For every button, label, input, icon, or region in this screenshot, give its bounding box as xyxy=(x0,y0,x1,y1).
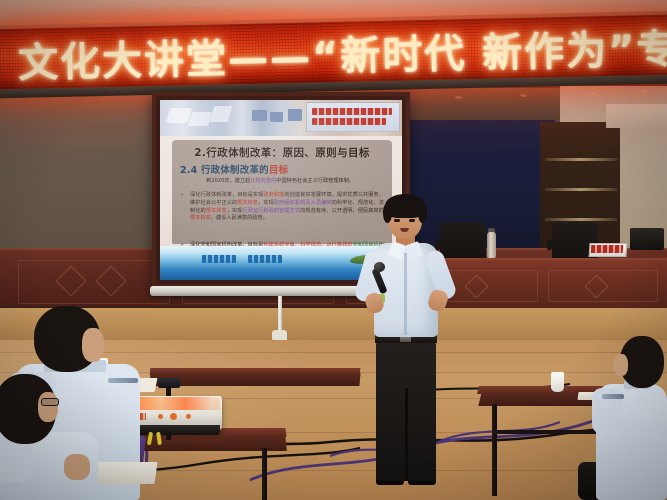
attendee-far-left xyxy=(0,372,106,500)
attendee-shoulder xyxy=(0,438,32,482)
paper-cup xyxy=(551,372,564,392)
slide-subtitle: 2.4 行政体制改革的目标 xyxy=(180,162,288,176)
slide-header-band xyxy=(306,102,400,132)
microphone-head xyxy=(374,262,385,272)
attendee-face xyxy=(614,354,628,376)
lecture-hall-photo: 文化大讲堂——“新时代 新作为”专 xyxy=(0,0,667,500)
wall-panel-outline xyxy=(18,260,170,304)
ceiling-light-dot xyxy=(640,90,647,93)
slide-lead-b: 比较完善的 xyxy=(250,178,276,184)
strip-photo-object xyxy=(166,108,192,123)
strip-monitor xyxy=(252,110,267,121)
presenter-eye xyxy=(394,219,400,222)
ceiling-light-dot xyxy=(590,92,597,95)
presenter-hair-side xyxy=(418,203,427,223)
strip-photo-object xyxy=(210,106,233,122)
ceiling-soffit xyxy=(606,104,667,128)
presenter-leg-split xyxy=(405,388,408,481)
slide-photo-strip xyxy=(160,100,402,136)
uniform-epaulette xyxy=(108,378,138,383)
uniform-epaulette xyxy=(602,394,624,399)
strip-monitor xyxy=(288,109,302,121)
name-plate-text xyxy=(591,245,624,253)
ceiling-light-dot xyxy=(455,96,462,99)
cabinet-shelf xyxy=(545,188,617,191)
thermos-flask xyxy=(487,232,496,258)
presenter-shirt-placket xyxy=(404,253,407,335)
attendee-right xyxy=(594,336,667,500)
slide-lead-c: 中国特色社会主义行政管理体制。 xyxy=(276,178,354,184)
presenter xyxy=(352,198,462,488)
slide-header-line xyxy=(312,108,392,115)
projector-button[interactable] xyxy=(158,414,163,419)
attendee-hand xyxy=(64,454,90,480)
cabinet-shelf xyxy=(545,218,617,221)
strip-monitor xyxy=(270,112,283,122)
presenter-eye xyxy=(409,219,415,222)
slide-header-line xyxy=(312,118,386,125)
slide-footer-tag xyxy=(248,255,282,263)
desk-monitor xyxy=(630,228,664,250)
middle-table xyxy=(149,373,360,386)
slide-lead-text: 到2020年，建立起比较完善的中国特色社会主义行政管理体制。 xyxy=(206,178,382,186)
mobile-phone xyxy=(158,378,180,388)
projector-button[interactable] xyxy=(186,414,191,419)
table-leg xyxy=(262,448,267,500)
slide-lead-a: 到2020年，建立起 xyxy=(206,178,250,184)
eyeglasses xyxy=(41,398,59,406)
slide-subtitle-number: 2.4 xyxy=(180,165,197,176)
slide-footer-tag xyxy=(202,255,236,263)
table-brace xyxy=(494,430,611,434)
chair-arm xyxy=(547,240,552,250)
slide-subtitle-highlight: 目标 xyxy=(269,165,288,176)
projector-button[interactable] xyxy=(170,413,177,420)
slide-title: 2.行政体制改革：原因、原则与目标 xyxy=(172,145,392,160)
presenter-hair-side xyxy=(383,203,392,223)
attendee-face xyxy=(82,328,104,362)
table-leg xyxy=(492,404,497,496)
slide-subtitle-text: 行政体制改革的 xyxy=(201,165,269,176)
attendee-face xyxy=(38,392,58,422)
cabinet-shelf xyxy=(545,158,617,161)
ceiling-light-dot xyxy=(520,94,527,97)
bullet-marker: ➢ xyxy=(180,192,184,200)
strip-photo-object xyxy=(188,112,212,126)
